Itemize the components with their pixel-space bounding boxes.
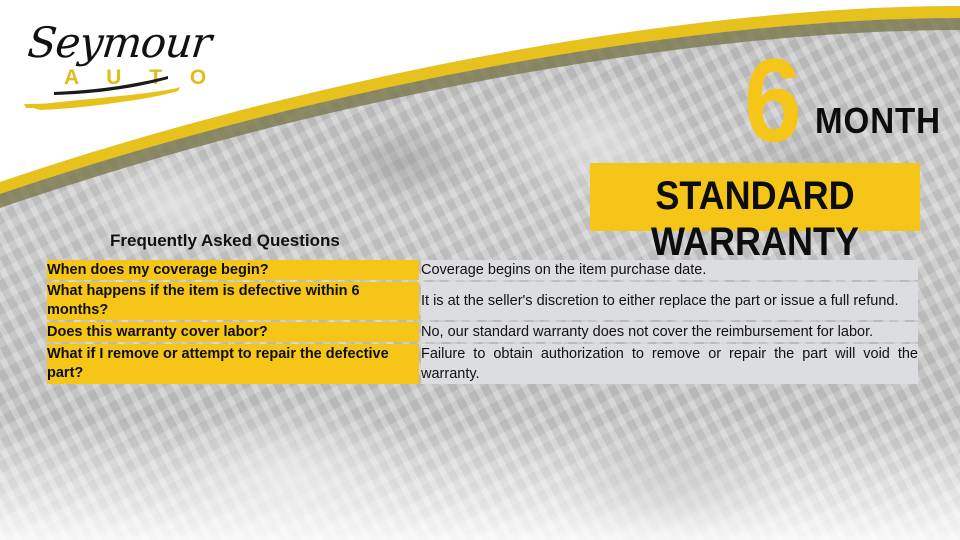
faq-answer: Coverage begins on the item purchase dat… — [421, 260, 918, 280]
warranty-duration-number: 6 — [744, 42, 802, 160]
table-row: What happens if the item is defective wi… — [47, 282, 918, 320]
background-bottom-fade — [0, 420, 960, 540]
standard-warranty-banner: STANDARD WARRANTY — [590, 163, 920, 231]
faq-answer: No, our standard warranty does not cover… — [421, 322, 918, 342]
faq-answer: Failure to obtain authorization to remov… — [421, 344, 918, 384]
faq-question: What happens if the item is defective wi… — [47, 282, 419, 320]
faq-heading: Frequently Asked Questions — [110, 231, 340, 251]
faq-question: When does my coverage begin? — [47, 260, 419, 280]
warranty-slide: Seymour A U T O 6 MONTH STANDARD WARRANT… — [0, 0, 960, 540]
table-row: What if I remove or attempt to repair th… — [47, 344, 918, 384]
faq-question: What if I remove or attempt to repair th… — [47, 344, 419, 384]
table-row: When does my coverage begin? Coverage be… — [47, 260, 918, 280]
faq-answer: It is at the seller's discretion to eith… — [421, 282, 918, 320]
warranty-duration-unit: MONTH — [815, 103, 941, 139]
table-row: Does this warranty cover labor? No, our … — [47, 322, 918, 342]
brand-name-script: Seymour — [25, 18, 213, 67]
standard-warranty-label: STANDARD WARRANTY — [607, 173, 904, 265]
brand-logo: Seymour A U T O — [18, 14, 218, 106]
brand-swoosh-icon — [18, 70, 218, 110]
faq-table: When does my coverage begin? Coverage be… — [45, 258, 920, 386]
faq-question: Does this warranty cover labor? — [47, 322, 419, 342]
